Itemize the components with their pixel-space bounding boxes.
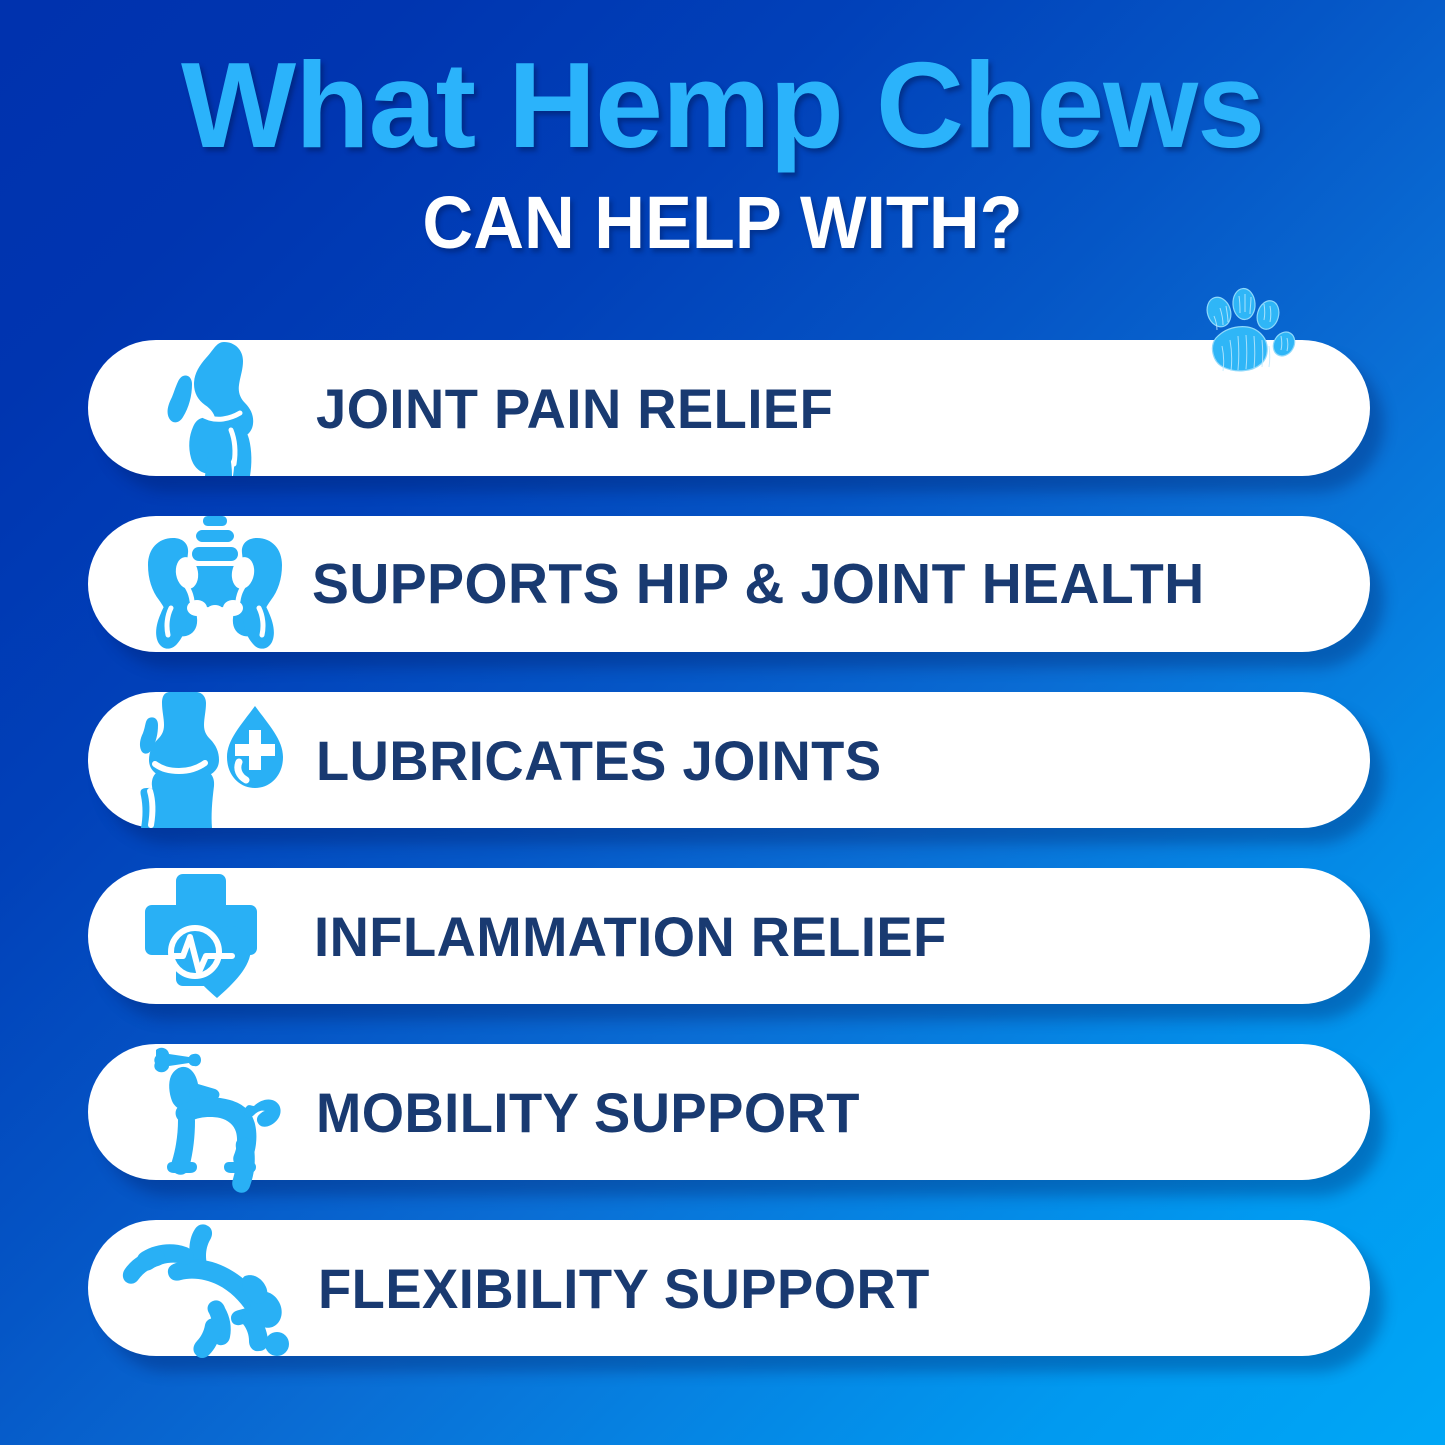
standing-dog-with-bone-icon — [130, 1044, 300, 1180]
medical-cross-heart-pulse-icon — [130, 868, 300, 1004]
pelvis-hip-bone-icon — [130, 516, 300, 652]
benefit-row-lubricates-joints[interactable]: LUBRICATES JOINTS — [88, 692, 1370, 828]
jumping-dog-with-ball-icon — [130, 1220, 300, 1356]
benefit-row-inflammation-relief[interactable]: INFLAMMATION RELIEF — [88, 868, 1370, 1004]
benefit-label: FLEXIBILITY SUPPORT — [318, 1256, 1338, 1321]
joint-with-fluid-droplet-icon — [130, 692, 300, 828]
benefit-label: INFLAMMATION RELIEF — [314, 904, 1338, 969]
benefit-label: SUPPORTS HIP & JOINT HEALTH — [312, 551, 1338, 617]
promo-graphic: What Hemp Chews CAN HELP WITH? — [0, 0, 1445, 1445]
benefit-row-joint-pain-relief[interactable]: JOINT PAIN RELIEF — [88, 340, 1370, 476]
benefit-list: JOINT PAIN RELIEF — [0, 340, 1445, 1356]
paw-print-icon — [1196, 286, 1302, 372]
benefit-row-flexibility-support[interactable]: FLEXIBILITY SUPPORT — [88, 1220, 1370, 1356]
benefit-row-hip-joint-health[interactable]: SUPPORTS HIP & JOINT HEALTH — [88, 516, 1370, 652]
knee-joint-bone-icon — [130, 340, 300, 476]
heading-block: What Hemp Chews CAN HELP WITH? — [0, 44, 1445, 260]
page-subtitle: CAN HELP WITH? — [36, 186, 1409, 260]
page-title: What Hemp Chews — [0, 44, 1445, 166]
benefit-label: LUBRICATES JOINTS — [316, 728, 1338, 793]
benefit-label: JOINT PAIN RELIEF — [316, 376, 1338, 441]
benefit-row-mobility-support[interactable]: MOBILITY SUPPORT — [88, 1044, 1370, 1180]
benefit-label: MOBILITY SUPPORT — [316, 1080, 1338, 1145]
